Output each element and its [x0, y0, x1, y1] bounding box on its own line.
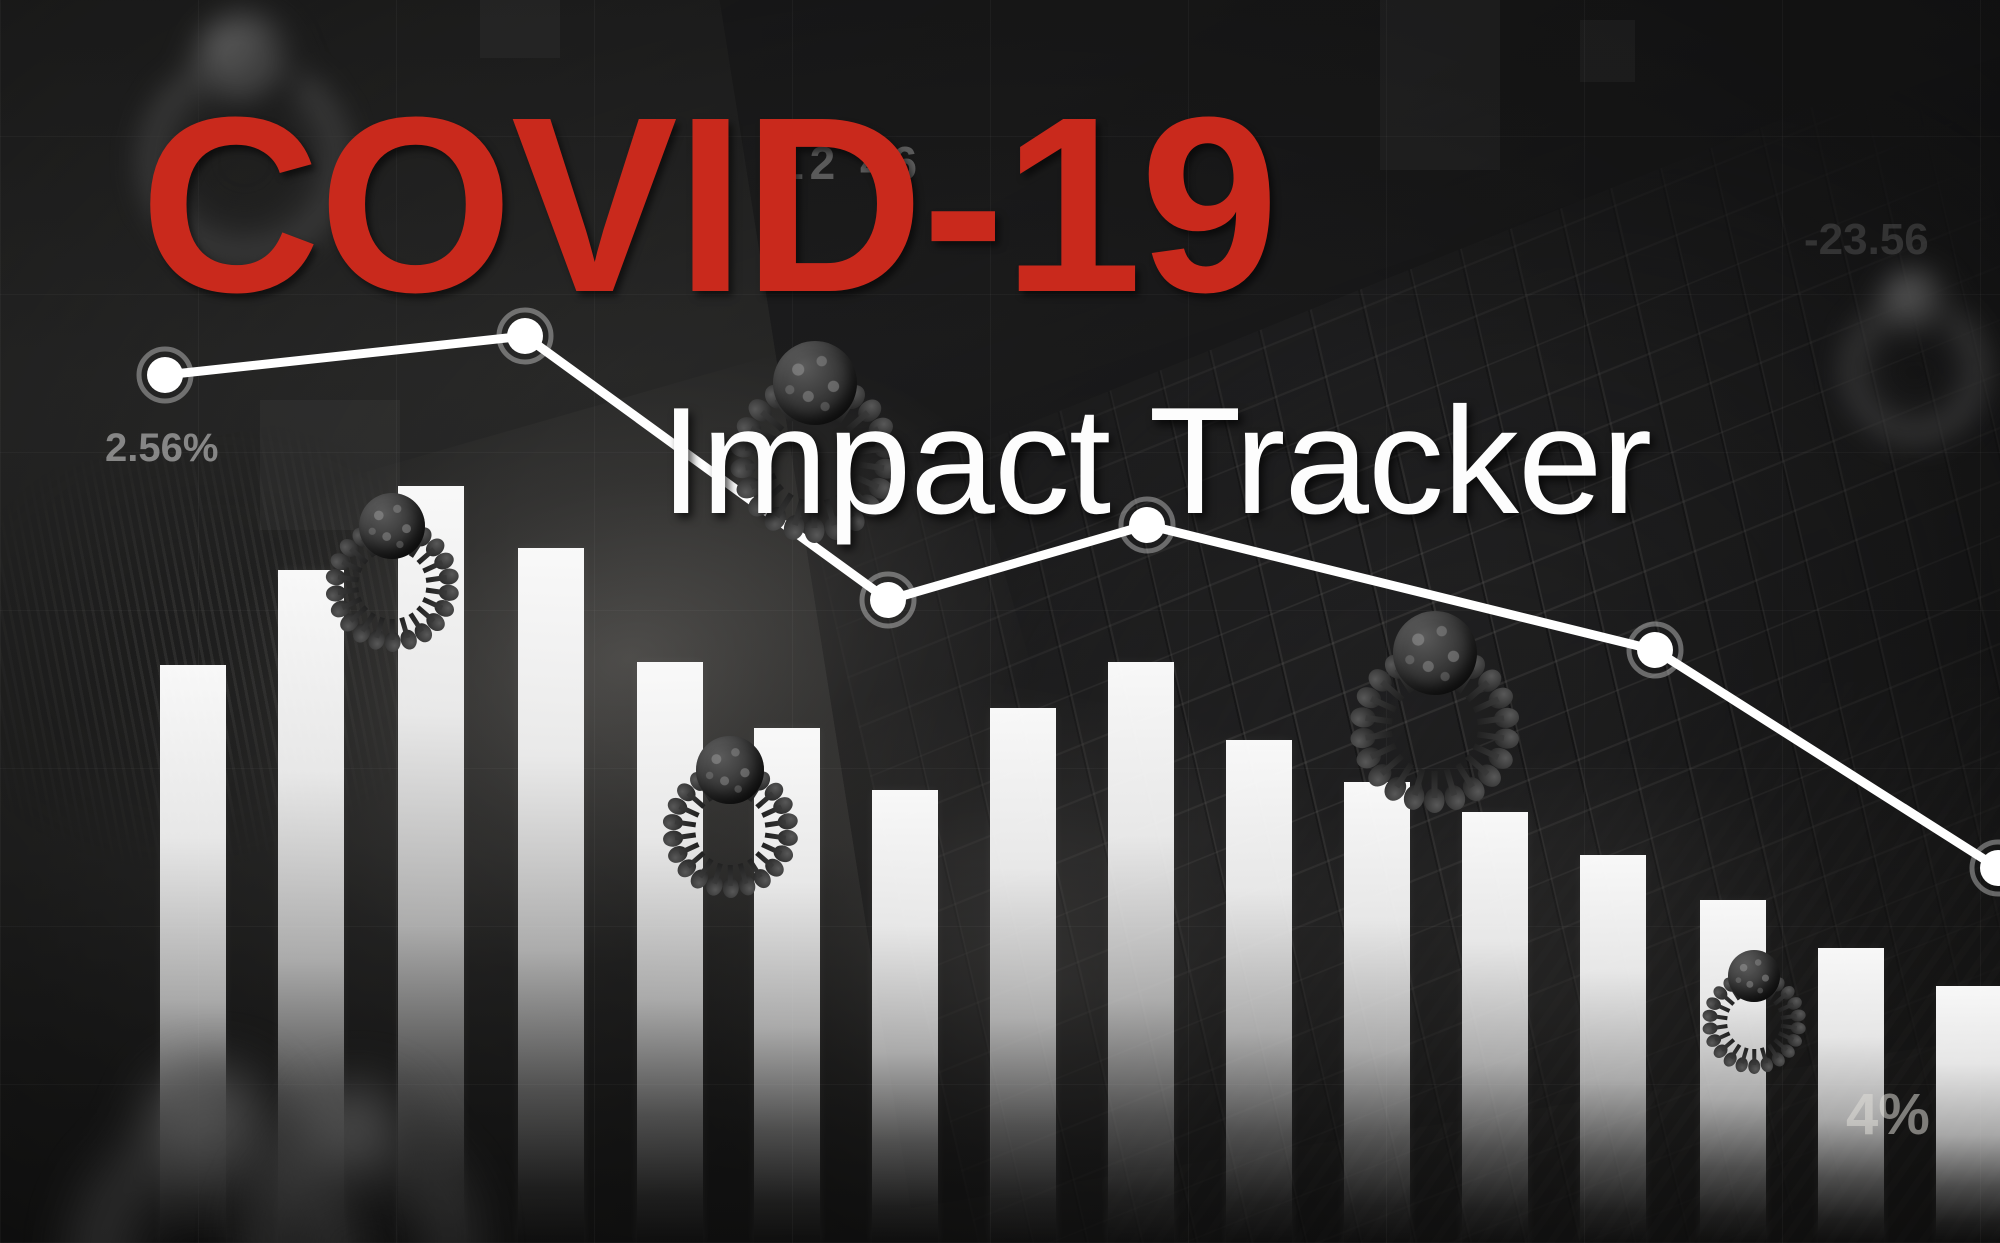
trend-point-5: [1637, 632, 1673, 668]
virus-surface-dots: [359, 493, 425, 559]
readout-bottom-right-percent: 4%: [1846, 1086, 1930, 1144]
headline-impact-tracker: Impact Tracker: [660, 385, 1651, 537]
covid-impact-tracker-banner: 12 46 -23.56 2.56% 4% COVID-19 Impact Tr…: [0, 0, 2000, 1243]
virus-surface-dots: [696, 736, 763, 803]
headline-covid-19: COVID-19: [140, 80, 1277, 330]
virus-keyboard-icon: [1360, 578, 1510, 728]
readout-left-percent: 2.56%: [105, 428, 218, 468]
virus-lower-right-icon: [1708, 930, 1800, 1022]
trend-point-1: [147, 357, 183, 393]
virus-left-bars-icon: [333, 467, 451, 585]
readout-top-right: -23.56: [1804, 218, 1929, 262]
virus-surface-dots: [1393, 611, 1477, 695]
virus-mid-bars-icon: [670, 710, 790, 830]
trend-point-3: [870, 582, 906, 618]
virus-surface-dots: [1728, 950, 1780, 1002]
